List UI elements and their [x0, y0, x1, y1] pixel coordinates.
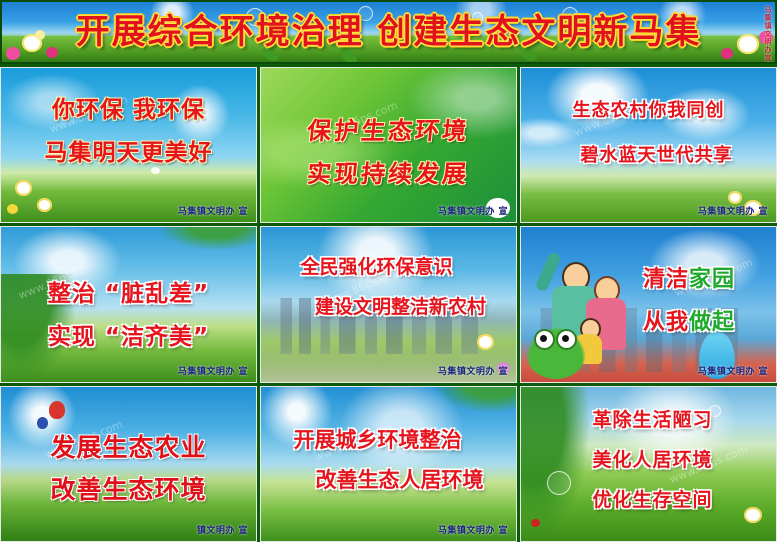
panel-7-credit: 镇文明办 宣 [197, 523, 248, 536]
panel-2-credit: 马集镇文明办 宣 [438, 204, 508, 217]
panel-3-line-2: 碧水蓝天世代共享 [521, 141, 776, 167]
panel-6-line-1a: 清洁 [643, 267, 689, 292]
panel-5-credit: 马集镇文明办 宣 [438, 364, 508, 377]
panel-9-line-3: 优化生存空间 [521, 485, 776, 512]
tree-branch-decoration [429, 386, 516, 415]
panel-1-line-2: 马集明天更美好 [1, 133, 256, 167]
ladybug-icon [531, 519, 540, 527]
hot-air-balloon-icon [49, 401, 65, 419]
poster-panel-3[interactable]: www.86ps.com 生态农村你我同创 碧水蓝天世代共享 马集镇文明办 宣 [520, 67, 777, 223]
page-title: 开展综合环境治理 创建生态文明新马集 [2, 15, 775, 49]
daisy-icon [37, 198, 52, 212]
poster-panel-8[interactable]: www.86ps.com 开展城乡环境整治 改善生态人居环境 马集镇文明办 宣 [260, 386, 517, 542]
poster-board: 开展综合环境治理 创建生态文明新马集 马集镇文明办宣 www.86ps.com … [0, 0, 777, 542]
panel-grid: www.86ps.com 你环保 我环保 马集明天更美好 马集镇文明办 宣 ww… [0, 67, 777, 542]
panel-9-line-1: 革除生活陋习 [521, 405, 776, 432]
panel-row: www.86ps.com 发展生态农业 改善生态环境 镇文明办 宣 www.86… [0, 386, 777, 542]
panel-4-line-2: 实现 “洁齐美” [1, 317, 256, 351]
tree-branch-decoration [116, 226, 256, 267]
panel-2-line-2: 实现持续发展 [260, 154, 517, 189]
panel-6-line-1b: 家园 [689, 267, 735, 292]
panel-8-credit: 马集镇文明办 宣 [438, 523, 508, 536]
header-banner: 开展综合环境治理 创建生态文明新马集 马集镇文明办宣 [0, 0, 777, 64]
panel-1-credit: 马集镇文明办 宣 [178, 204, 248, 217]
panel-5-line-2: 建设文明整洁新农村 [261, 292, 516, 319]
panel-row: www.86ps.com 整治 “脏乱差” 实现 “洁齐美” 马集镇文明办 宣 … [0, 226, 777, 382]
panel-row: www.86ps.com 你环保 我环保 马集明天更美好 马集镇文明办 宣 ww… [0, 67, 777, 223]
panel-3-credit: 马集镇文明办 宣 [698, 204, 768, 217]
poster-panel-5[interactable]: www.86ps.com 全民强化环保意识 建设文明整洁新农村 马集镇文明办 宣 [260, 226, 517, 382]
poster-panel-2[interactable]: www.86ps.com 保护生态环境 实现持续发展 马集镇文明办 宣 [260, 67, 517, 223]
panel-2-line-1: 保护生态环境 [260, 111, 517, 146]
panel-9-line-2: 美化人居环境 [521, 445, 776, 472]
panel-8-line-1: 开展城乡环境整治 [261, 424, 516, 454]
poster-panel-9[interactable]: www.86ps.com 革除生活陋习 美化人居环境 优化生存空间 [520, 386, 777, 542]
panel-7-line-2: 改善生态环境 [1, 470, 256, 506]
poster-panel-4[interactable]: www.86ps.com 整治 “脏乱差” 实现 “洁齐美” 马集镇文明办 宣 [0, 226, 257, 382]
panel-6-line-2a: 从我 [643, 310, 689, 335]
header-side-label: 马集镇文明办宣 [760, 6, 772, 62]
panel-6-credit: 马集镇文明办 宣 [698, 364, 768, 377]
daisy-icon [744, 507, 762, 523]
frog-mascot-icon [526, 327, 586, 379]
poster-panel-1[interactable]: www.86ps.com 你环保 我环保 马集明天更美好 马集镇文明办 宣 [0, 67, 257, 223]
panel-4-line-1: 整治 “脏乱差” [1, 274, 256, 308]
panel-7-line-1: 发展生态农业 [1, 428, 256, 464]
panel-6-line-2b: 做起 [689, 310, 735, 335]
daisy-icon [728, 191, 742, 204]
panel-8-line-2: 改善生态人居环境 [261, 464, 516, 494]
panel-5-line-1: 全民强化环保意识 [261, 252, 516, 279]
flower-icon [7, 204, 18, 214]
panel-4-credit: 马集镇文明办 宣 [178, 364, 248, 377]
daisy-icon [477, 334, 494, 350]
butterfly-icon [151, 167, 160, 174]
hot-air-balloon-icon [37, 417, 48, 429]
panel-3-line-1: 生态农村你我同创 [521, 96, 776, 122]
poster-panel-6[interactable]: www.86ps.com 清洁家园 从我做起 马集镇文明办 宣 [520, 226, 777, 382]
daisy-icon [15, 180, 32, 196]
poster-panel-7[interactable]: www.86ps.com 发展生态农业 改善生态环境 镇文明办 宣 [0, 386, 257, 542]
panel-1-line-1: 你环保 我环保 [1, 90, 256, 124]
